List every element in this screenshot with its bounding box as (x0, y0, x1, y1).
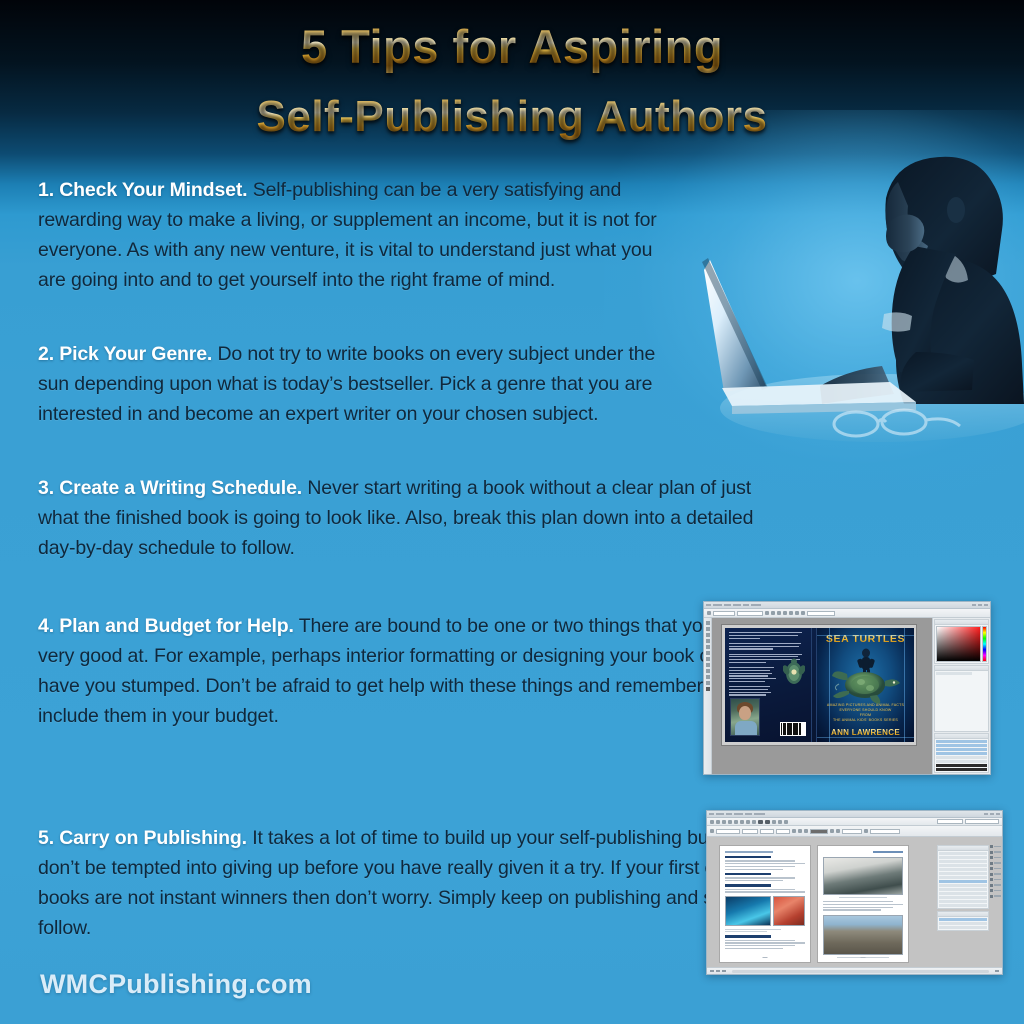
window-close-icon[interactable] (996, 813, 1000, 815)
fill-icon[interactable] (778, 820, 782, 824)
eraser-tool-icon[interactable] (706, 651, 710, 655)
auto-select-icon[interactable] (801, 611, 805, 615)
running-header (725, 851, 773, 853)
window-maximize-icon[interactable] (978, 604, 982, 606)
type-menu-icon[interactable] (728, 820, 732, 824)
tool-option-field[interactable] (737, 611, 763, 616)
photoshop-panel-dock (932, 618, 990, 774)
foreground-color-swatch[interactable] (706, 687, 710, 691)
indesign-collapsed-panel-rail (990, 845, 1001, 898)
distribute-icon[interactable] (795, 611, 799, 615)
object-styles-panel-icon[interactable] (990, 889, 1001, 892)
layout-guide (817, 635, 914, 636)
page-left[interactable] (719, 845, 811, 963)
cover-author-name: ANN LAWRENCE (817, 728, 914, 737)
crop-tool-icon[interactable] (706, 633, 710, 637)
distribute-icon[interactable] (783, 611, 787, 615)
book-cover-document[interactable]: SEA TURTLES (721, 624, 917, 746)
pages-panel-icon[interactable] (990, 845, 1001, 848)
window-minimize-icon[interactable] (984, 813, 988, 815)
align-center-icon[interactable] (836, 829, 840, 833)
section-heading (725, 935, 771, 937)
preflight-indicator[interactable] (722, 970, 726, 972)
cover-subtitle: Amazing Pictures and Animal Facts Everyo… (817, 703, 914, 723)
photoshop-window-screenshot: SEA TURTLES (703, 601, 991, 775)
brush-tool-icon[interactable] (706, 645, 710, 649)
tip-4-lead: 4. Plan and Budget for Help. (38, 615, 294, 637)
layout-guide (904, 628, 905, 742)
info-panel-icon[interactable] (990, 895, 1001, 898)
window-menu-icon[interactable] (752, 820, 756, 824)
table-menu-icon[interactable] (740, 820, 744, 824)
align-tool-icon[interactable] (765, 820, 770, 824)
title-line-2: Self-Publishing Authors (0, 86, 1024, 148)
section-heading (725, 873, 771, 875)
tip-2-lead: 2. Pick Your Genre. (38, 343, 212, 365)
layers-panel[interactable] (937, 911, 989, 931)
paragraph-styles-panel[interactable] (937, 845, 989, 909)
frame-tool-icon[interactable] (772, 820, 776, 824)
section-heading (725, 856, 771, 858)
links-panel-icon[interactable] (990, 851, 1001, 854)
align-left-icon[interactable] (765, 611, 769, 615)
titlebar-chip (754, 813, 765, 815)
zoom-level-indicator[interactable] (710, 970, 714, 972)
distribute-icon[interactable] (789, 611, 793, 615)
lasso-tool-icon[interactable] (706, 627, 710, 631)
file-menu-icon[interactable] (710, 820, 714, 824)
stroke-panel-icon[interactable] (990, 856, 1001, 859)
layer-row[interactable] (936, 756, 987, 759)
indesign-panel-group (937, 845, 989, 931)
align-right-icon[interactable] (777, 611, 781, 615)
indesign-workspace (707, 837, 1002, 974)
tip-item-2: 2. Pick Your Genre. Do not try to write … (38, 339, 678, 429)
titlebar-chip (713, 604, 722, 606)
window-minimize-icon[interactable] (972, 604, 976, 606)
titlebar-chip (743, 604, 749, 606)
image-caption (725, 929, 781, 930)
layer-row[interactable] (936, 744, 987, 747)
layer-row-mask[interactable] (936, 768, 987, 771)
zoom-tool-icon[interactable] (706, 681, 710, 685)
font-family-field[interactable] (716, 829, 740, 834)
titlebar-chip (706, 604, 711, 606)
layout-guide (829, 628, 830, 742)
photoshop-toolbox (704, 618, 712, 774)
titlebar-chip (726, 813, 732, 815)
options-field[interactable] (807, 611, 835, 616)
move-tool-icon[interactable] (707, 611, 711, 615)
infographic-poster: 5 Tips for Aspiring Self-Publishing Auth… (0, 0, 1024, 1024)
horizontal-scrollbar[interactable] (732, 970, 989, 973)
tip-1-lead: 1. Check Your Mindset. (38, 179, 247, 201)
tip-item-3: 3. Create a Writing Schedule. Never star… (38, 473, 778, 563)
image-caption (725, 931, 767, 932)
color-panel-icon[interactable] (990, 862, 1001, 865)
running-header (873, 851, 903, 853)
eyedropper-tool-icon[interactable] (706, 639, 710, 643)
layout-menu-icon[interactable] (722, 820, 726, 824)
photoshop-options-bar (704, 609, 990, 618)
back-cover-turtle-image (783, 658, 805, 686)
italic-icon[interactable] (798, 829, 802, 833)
coral-photo[interactable] (773, 896, 805, 926)
character-formatting-icon[interactable] (710, 829, 714, 833)
page-right[interactable] (817, 845, 909, 963)
beach-turtles-photo[interactable] (823, 915, 903, 955)
selected-style-row[interactable] (939, 880, 987, 883)
titlebar-chip (709, 813, 714, 815)
indesign-control-bar (707, 826, 1002, 837)
layer-row[interactable] (936, 760, 987, 763)
swatches-panel-icon[interactable] (990, 867, 1001, 870)
hand-tool-icon[interactable] (706, 675, 710, 679)
gradient-tool-icon[interactable] (706, 657, 710, 661)
object-menu-icon[interactable] (734, 820, 738, 824)
text-tool-icon[interactable] (706, 663, 710, 667)
layer-row[interactable] (936, 752, 987, 755)
shape-tool-icon[interactable] (706, 669, 710, 673)
marquee-tool-icon[interactable] (706, 621, 710, 625)
tip-item-4: 4. Plan and Budget for Help. There are b… (38, 611, 790, 731)
columns-icon[interactable] (864, 829, 868, 833)
indesign-status-bar (707, 967, 1002, 974)
history-panel[interactable] (934, 665, 989, 732)
titlebar-chip (724, 604, 731, 606)
layer-row[interactable] (936, 748, 987, 751)
indesign-menu-bar (707, 818, 1002, 826)
page-number (763, 957, 768, 959)
footer-website: WMCPublishing.com (40, 969, 312, 1000)
titlebar-chip (734, 813, 743, 815)
align-center-icon[interactable] (771, 611, 775, 615)
page-navigator[interactable] (716, 970, 720, 972)
workspace-switcher[interactable] (937, 819, 963, 824)
titlebar-chip (733, 604, 741, 606)
edit-menu-icon[interactable] (716, 820, 720, 824)
cover-sea-turtle-image (831, 664, 901, 704)
photoshop-titlebar (704, 602, 990, 609)
bold-icon[interactable] (792, 829, 796, 833)
font-style-field[interactable] (742, 829, 758, 834)
align-left-icon[interactable] (830, 829, 834, 833)
effects-panel-icon[interactable] (990, 873, 1001, 876)
text-wrap-panel-icon[interactable] (990, 884, 1001, 887)
title-line-1: 5 Tips for Aspiring (0, 16, 1024, 78)
search-field[interactable] (965, 819, 999, 824)
object-style-field[interactable] (870, 829, 900, 834)
photoshop-workspace: SEA TURTLES (704, 618, 990, 774)
layers-panel[interactable] (934, 733, 989, 773)
color-field-picker[interactable] (936, 626, 981, 662)
underline-icon[interactable] (804, 829, 808, 833)
layout-guide (817, 737, 914, 738)
indesign-canvas[interactable] (707, 837, 1002, 974)
page-spread (719, 845, 909, 963)
titlebar-chip (745, 813, 752, 815)
titlebar-chip (751, 604, 761, 606)
leading-field[interactable] (776, 829, 790, 834)
view-mode-indicator[interactable] (995, 970, 999, 972)
book-front-cover: SEA TURTLES (817, 628, 914, 742)
book-cover-spread: SEA TURTLES (725, 628, 914, 742)
author-photo (730, 698, 760, 736)
align-tool-icon[interactable] (758, 820, 763, 824)
layers-list[interactable] (935, 739, 988, 772)
stroke-weight-field[interactable] (810, 829, 828, 834)
layer-row-mask[interactable] (936, 764, 987, 767)
layer-row[interactable] (939, 918, 987, 921)
window-maximize-icon[interactable] (990, 813, 994, 815)
color-panel[interactable] (934, 619, 989, 664)
tool-preset-field[interactable] (713, 611, 735, 616)
page-title: 5 Tips for Aspiring Self-Publishing Auth… (0, 16, 1024, 148)
window-close-icon[interactable] (984, 604, 988, 606)
book-back-cover (725, 628, 811, 742)
cover-subtitle-line-4: The Animal Kids' Books Series (817, 718, 914, 723)
tip-item-1: 1. Check Your Mindset. Self-publishing c… (38, 175, 678, 295)
align-panel-icon[interactable] (990, 878, 1001, 881)
stroke-icon[interactable] (784, 820, 788, 824)
jellyfish-photo[interactable] (725, 896, 771, 926)
titlebar-chip (716, 813, 724, 815)
tip-item-5: 5. Carry on Publishing. It takes a lot o… (38, 823, 808, 943)
paragraph-style-field[interactable] (842, 829, 862, 834)
layer-row[interactable] (936, 740, 987, 743)
tip-5-lead: 5. Carry on Publishing. (38, 827, 247, 849)
photoshop-canvas[interactable]: SEA TURTLES (712, 618, 932, 774)
indesign-titlebar (707, 811, 1002, 818)
image-row (725, 896, 805, 926)
page-number (861, 957, 866, 959)
view-menu-icon[interactable] (746, 820, 750, 824)
tip-3-lead: 3. Create a Writing Schedule. (38, 477, 302, 499)
hue-slider[interactable] (982, 626, 987, 662)
isbn-barcode (780, 722, 806, 736)
hatchling-turtle-photo[interactable] (823, 857, 903, 895)
font-size-field[interactable] (760, 829, 774, 834)
section-heading (725, 884, 771, 886)
image-caption (839, 897, 887, 898)
indesign-window-screenshot (706, 810, 1003, 975)
